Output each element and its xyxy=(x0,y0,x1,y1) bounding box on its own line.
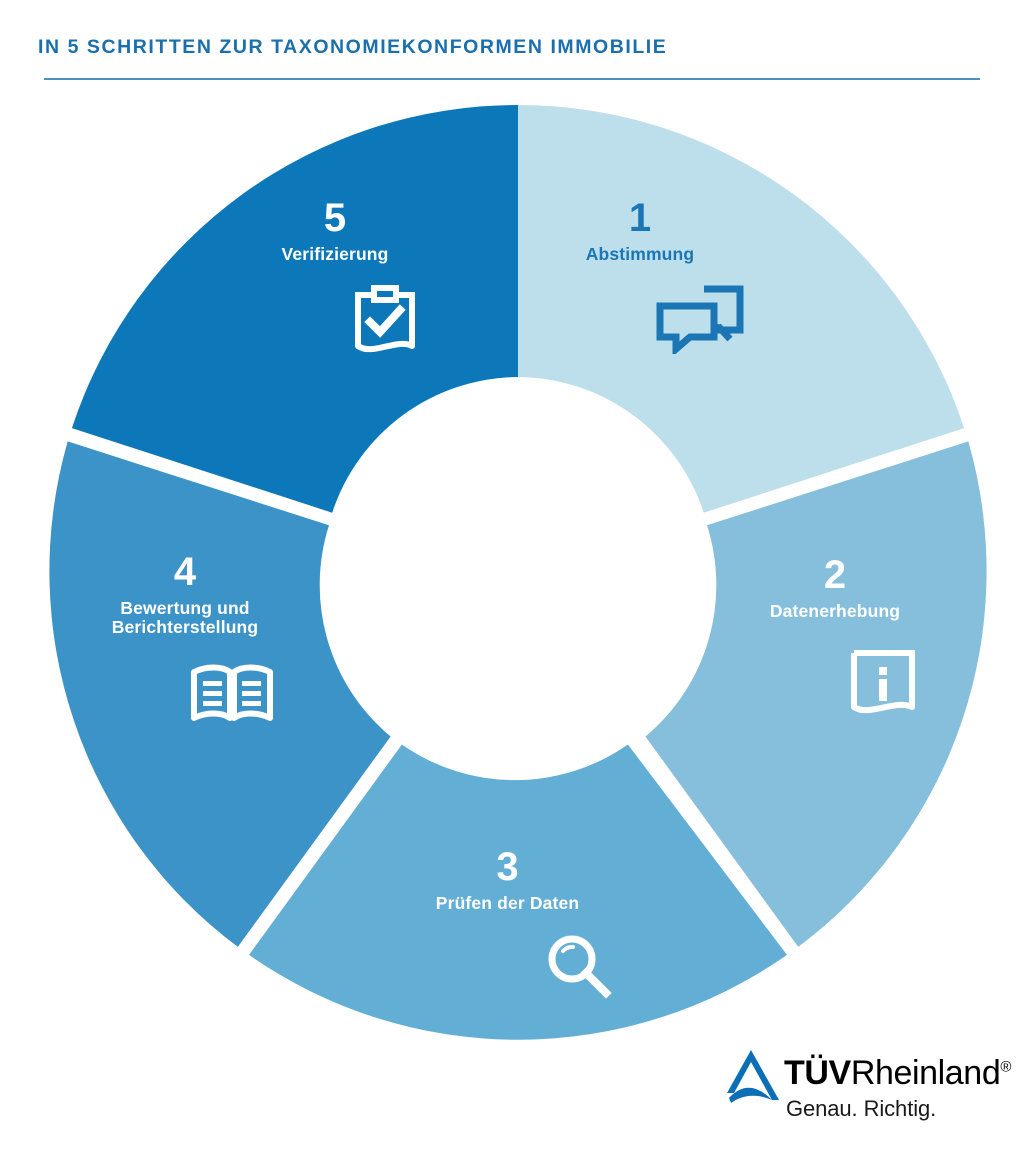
logo-wordmark: TÜVRheinland® xyxy=(784,1054,1011,1093)
logo-brand-rheinland: Rheinland xyxy=(851,1054,1001,1092)
registered-trademark-icon: ® xyxy=(1000,1059,1011,1076)
process-donut-chart: 1 Abstimmung 2 Datenerhebung 3 Prüfen de… xyxy=(0,0,1024,1060)
logo-claim: Genau. Richtig. xyxy=(786,1096,936,1122)
donut-segment-5[interactable] xyxy=(72,105,518,513)
logo-brand-tuv: TÜV xyxy=(784,1054,851,1092)
donut-segment-1[interactable] xyxy=(518,105,964,513)
donut-svg xyxy=(0,0,1024,1060)
tuv-rheinland-logo: TÜVRheinland® Genau. Richtig. xyxy=(722,1044,990,1126)
tuv-triangle-icon xyxy=(722,1048,780,1113)
